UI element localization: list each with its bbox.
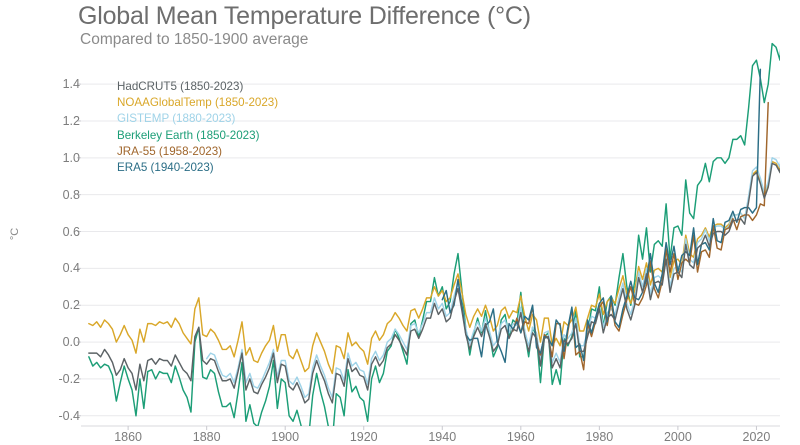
x-tick-label: 1980: [585, 430, 613, 444]
x-tick-label: 2000: [664, 430, 692, 444]
x-tick-label: 1860: [114, 430, 142, 444]
y-axis-ticks: -0.4-0.20.00.20.40.60.81.01.21.4: [0, 0, 80, 445]
y-tick-label: 0.4: [36, 261, 80, 275]
y-tick-label: 0.6: [36, 225, 80, 239]
x-tick-label: 1900: [271, 430, 299, 444]
x-tick-label: 1920: [350, 430, 378, 444]
legend-item-noaaglobaltemp[interactable]: NOAAGlobalTemp (1850-2023): [117, 95, 278, 111]
legend-item-era5[interactable]: ERA5 (1940-2023): [117, 160, 278, 176]
y-tick-label: 0.8: [36, 188, 80, 202]
legend-item-gistemp[interactable]: GISTEMP (1880-2023): [117, 111, 278, 127]
legend-item-jra-55[interactable]: JRA-55 (1958-2023): [117, 144, 278, 160]
y-tick-label: 1.0: [36, 151, 80, 165]
x-tick-label: 2020: [743, 430, 771, 444]
series-line-jra-55: [513, 103, 768, 370]
y-tick-label: -0.2: [36, 372, 80, 386]
data-series-group: [89, 0, 796, 442]
y-tick-label: -0.4: [36, 409, 80, 423]
x-tick-label: 1940: [428, 430, 456, 444]
plot-area: [0, 0, 800, 445]
legend-item-hadcrut5[interactable]: HadCRUT5 (1850-2023): [117, 79, 278, 95]
x-tick-label: 1960: [507, 430, 535, 444]
chart-figure: Global Mean Temperature Difference (°C) …: [0, 0, 800, 445]
y-tick-label: 1.4: [36, 77, 80, 91]
chart-legend: HadCRUT5 (1850-2023)NOAAGlobalTemp (1850…: [117, 79, 278, 176]
legend-item-berkeley-earth[interactable]: Berkeley Earth (1850-2023): [117, 128, 278, 144]
y-tick-label: 0.0: [36, 335, 80, 349]
y-tick-label: 0.2: [36, 298, 80, 312]
x-tick-label: 1880: [193, 430, 221, 444]
y-tick-label: 1.2: [36, 114, 80, 128]
series-line-berkeley-earth: [89, 0, 796, 442]
